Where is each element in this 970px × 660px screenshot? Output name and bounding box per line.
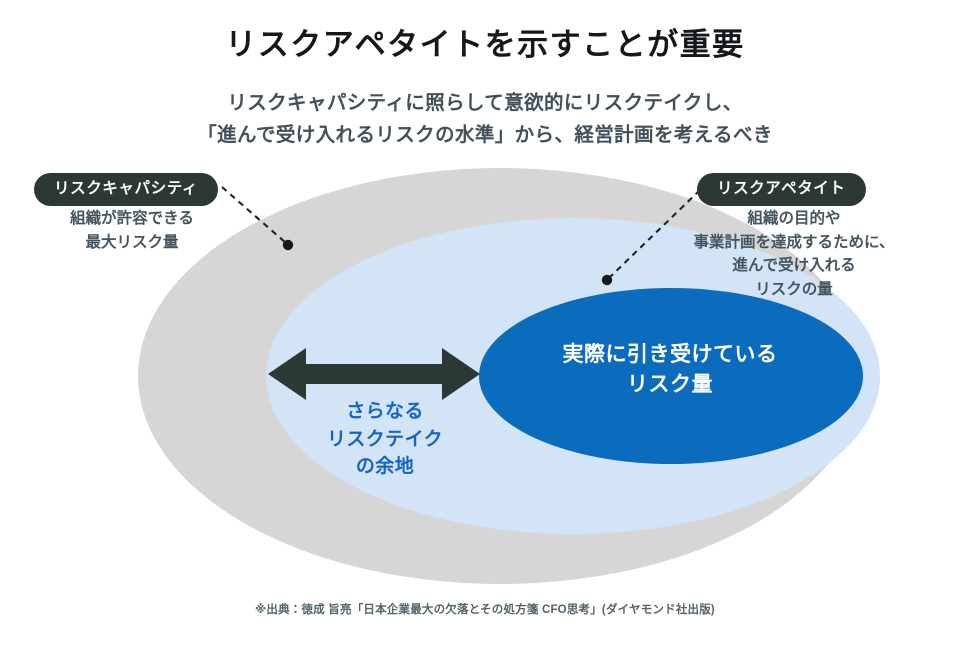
page-subtitle: リスクキャパシティに照らして意欲的にリスクテイクし、 「進んで受け入れるリスクの…	[0, 88, 970, 151]
subtitle-line-2: 「進んで受け入れるリスクの水準」から、経営計画を考えるべき	[0, 120, 970, 152]
headroom-line-3: の余地	[285, 453, 485, 481]
capacity-desc-line-2: 最大リスク量	[22, 231, 242, 255]
actual-risk-line-2: リスク量	[535, 370, 805, 400]
actual-risk-line-1: 実際に引き受けている	[535, 340, 805, 370]
diagram-canvas: リスクアペタイトを示すことが重要 リスクキャパシティに照らして意欲的にリスクテイ…	[0, 0, 970, 660]
appetite-desc-line-3: 進んで受け入れる	[645, 254, 943, 278]
appetite-desc-line-1: 組織の目的や	[645, 207, 943, 231]
headroom-line-2: リスクテイク	[285, 426, 485, 454]
headroom-double-arrow	[268, 348, 480, 400]
badge-risk-capacity: リスクキャパシティ	[34, 173, 218, 206]
description-risk-capacity: 組織が許容できる 最大リスク量	[22, 207, 242, 254]
actual-risk-label: 実際に引き受けている リスク量	[535, 340, 805, 401]
appetite-desc-line-2: 事業計画を達成するために、	[645, 231, 943, 255]
badge-risk-appetite: リスクアペタイト	[697, 173, 866, 206]
source-note: ※出典：徳成 旨亮「日本企業最大の欠落とその処方箋 CFO思考」(ダイヤモンド社…	[0, 601, 970, 617]
subtitle-line-1: リスクキャパシティに照らして意欲的にリスクテイクし、	[0, 88, 970, 120]
appetite-desc-line-4: リスクの量	[645, 278, 943, 302]
description-risk-appetite: 組織の目的や 事業計画を達成するために、 進んで受け入れる リスクの量	[645, 207, 943, 301]
headroom-line-1: さらなる	[285, 398, 485, 426]
capacity-desc-line-1: 組織が許容できる	[22, 207, 242, 231]
page-title: リスクアペタイトを示すことが重要	[0, 26, 970, 63]
headroom-label: さらなる リスクテイク の余地	[285, 398, 485, 481]
